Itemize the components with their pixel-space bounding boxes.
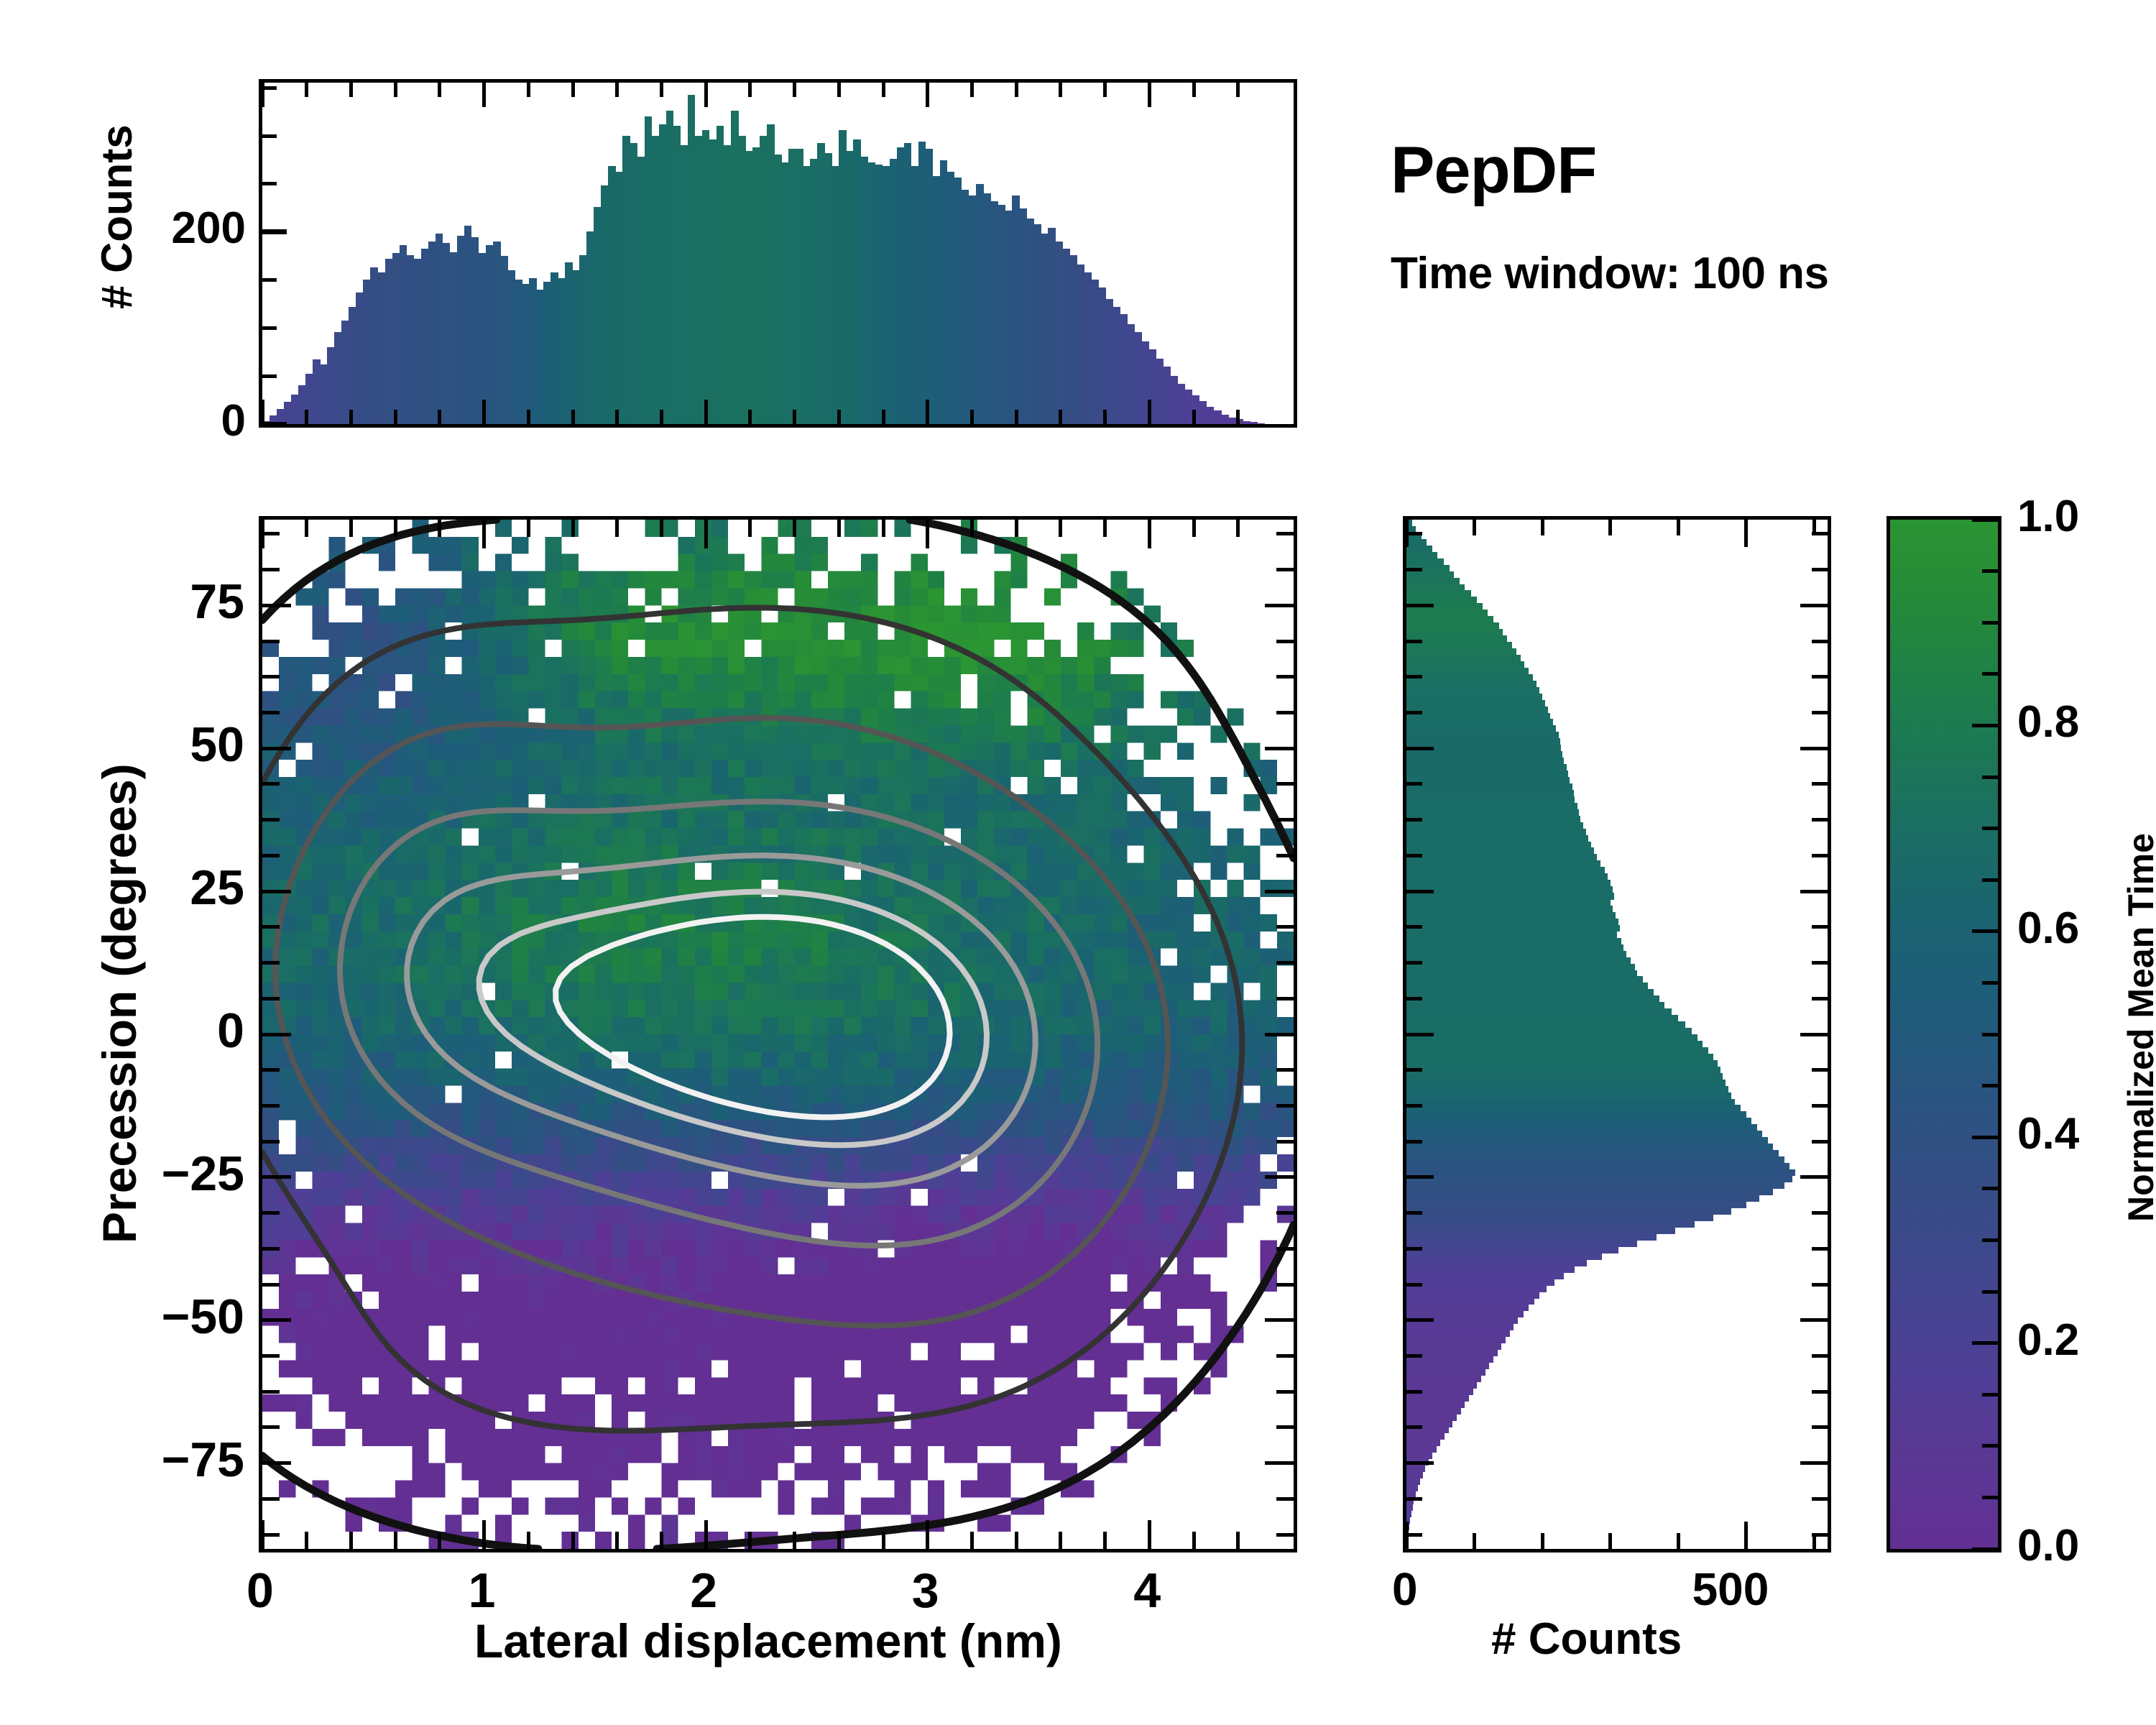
axis-tick (262, 1140, 280, 1144)
axis-tick (660, 1532, 663, 1549)
axis-tick (615, 520, 619, 537)
x-tick-label: 1 (469, 1563, 496, 1619)
axis-tick (571, 410, 575, 424)
axis-tick (1276, 675, 1294, 678)
colorbar-tick (1972, 1547, 1998, 1551)
top-histogram-bar (666, 111, 674, 424)
axis-tick (660, 410, 663, 424)
axis-tick (882, 520, 885, 537)
top-histogram-bar (443, 243, 451, 424)
axis-tick (1608, 1533, 1612, 1549)
main-2d-heatmap-panel (259, 516, 1297, 1552)
colorbar-tick (1982, 981, 1998, 985)
axis-tick (970, 410, 974, 424)
axis-tick (1276, 997, 1294, 1000)
axis-tick (748, 410, 752, 424)
top-histogram-bar (486, 245, 494, 424)
axis-tick (262, 1033, 291, 1036)
top-histogram-bars (262, 83, 1294, 424)
axis-tick (1192, 410, 1196, 424)
axis-tick (1276, 961, 1294, 965)
top-histogram-bar (724, 145, 732, 424)
axis-tick (262, 326, 277, 330)
axis-tick (793, 410, 796, 424)
top-histogram-bar (990, 201, 998, 424)
axis-tick (1800, 1175, 1828, 1179)
top-histogram-bar (377, 272, 385, 424)
top-histogram-bar (334, 332, 342, 424)
axis-tick (1276, 711, 1294, 714)
top-histogram-bar (543, 282, 551, 424)
top-histogram-bar (370, 267, 378, 424)
axis-tick (1812, 818, 1828, 822)
axis-tick (1812, 1211, 1828, 1215)
axis-tick (262, 1247, 280, 1251)
axis-tick (527, 520, 530, 537)
y-tick-label: −50 (29, 1289, 244, 1345)
colorbar-tick-label: 0.8 (2017, 696, 2079, 747)
top-histogram-bar (507, 270, 515, 424)
axis-tick (1015, 1532, 1018, 1549)
axis-tick (793, 83, 796, 97)
axis-tick (1812, 1533, 1828, 1537)
axis-tick (1265, 890, 1294, 893)
y-axis-label: Precession (degrees) (92, 763, 147, 1243)
axis-tick (1276, 1390, 1294, 1394)
top-histogram-bar (702, 130, 710, 424)
axis-tick (262, 1175, 291, 1179)
axis-tick (1812, 1390, 1828, 1394)
contour-line (262, 520, 1294, 1549)
y-tick-label: −75 (29, 1432, 244, 1488)
top-histogram-bar (911, 166, 919, 424)
axis-tick (1265, 1318, 1294, 1322)
axis-tick (1812, 568, 1828, 571)
colorbar-label: Normalized Mean Time (2120, 833, 2156, 1222)
axis-tick (262, 604, 291, 607)
top-histogram-bar (1091, 280, 1099, 424)
top-histogram-bar (681, 145, 688, 424)
axis-tick (527, 1532, 530, 1549)
top-histogram-bar (918, 142, 926, 424)
axis-tick (1276, 1104, 1294, 1108)
axis-tick (1276, 1533, 1294, 1537)
top-histogram-bar (1156, 359, 1164, 424)
axis-tick (1276, 925, 1294, 929)
axis-tick (1406, 1140, 1422, 1144)
axis-tick (1276, 854, 1294, 857)
top-histogram-bar (320, 364, 328, 424)
top-histogram-bar (536, 290, 544, 424)
axis-tick (1812, 854, 1828, 857)
axis-tick (262, 711, 280, 714)
axis-tick (1812, 782, 1828, 786)
top-histogram-bar (1207, 407, 1215, 424)
axis-tick (1406, 640, 1422, 643)
axis-tick (882, 83, 885, 97)
top-histogram-bar (407, 255, 415, 424)
axis-tick (262, 675, 280, 678)
axis-tick (394, 410, 397, 424)
axis-tick (527, 410, 530, 424)
top-histogram-bar (890, 159, 898, 424)
top-histogram-bar (752, 147, 760, 424)
colorbar-tick-label: 0.0 (2017, 1520, 2079, 1571)
axis-tick (1265, 1461, 1294, 1465)
top-histogram-bar (1041, 234, 1049, 424)
axis-tick (1812, 1425, 1828, 1429)
top-histogram-bar (817, 143, 825, 424)
axis-tick (1236, 1532, 1240, 1549)
axis-tick (970, 520, 974, 537)
contour-overlay (262, 520, 1294, 1549)
axis-tick (262, 568, 280, 571)
axis-tick (1265, 747, 1294, 750)
top-histogram-bar (1221, 415, 1229, 424)
axis-tick (1103, 520, 1107, 537)
axis-tick (1406, 675, 1422, 678)
axis-tick (262, 818, 280, 822)
top-histogram-bar (1019, 208, 1027, 424)
axis-tick (1406, 1318, 1434, 1322)
top-histogram-bar (738, 136, 746, 424)
axis-tick (1015, 410, 1018, 424)
top-histogram-bar (615, 172, 623, 424)
axis-tick (1812, 1247, 1828, 1251)
top-histogram-bar (1171, 376, 1179, 424)
top-histogram-bar (760, 136, 768, 424)
axis-tick (1677, 1533, 1680, 1549)
axis-tick (882, 1532, 885, 1549)
axis-tick (704, 83, 708, 107)
axis-tick (262, 640, 280, 643)
top-histogram-bar (608, 166, 616, 424)
axis-tick (1473, 520, 1476, 535)
x-tick-label: 4 (1133, 1563, 1161, 1619)
top-histogram-bar (969, 195, 977, 424)
top-histogram-bar (421, 249, 429, 424)
axis-tick (1800, 890, 1828, 893)
top-histogram-bar (926, 149, 934, 424)
axis-tick (1812, 1104, 1828, 1108)
axis-tick (1812, 1497, 1828, 1501)
axis-tick (262, 278, 277, 282)
axis-tick (1406, 890, 1434, 893)
axis-tick (1192, 1532, 1196, 1549)
top-histogram-bar (1055, 241, 1063, 424)
axis-tick (1406, 1247, 1422, 1251)
axis-tick (1406, 532, 1422, 535)
axis-tick (262, 1354, 280, 1358)
axis-tick (1608, 520, 1612, 535)
axis-tick (262, 1283, 280, 1287)
axis-tick (1276, 1211, 1294, 1215)
axis-tick (394, 520, 397, 537)
top-histogram-bar (767, 124, 775, 424)
axis-tick (1812, 1068, 1828, 1072)
top-histogram-bar (515, 280, 522, 424)
top-histogram-bar (846, 151, 854, 424)
axis-tick (1406, 997, 1422, 1000)
axis-tick (1800, 1461, 1828, 1465)
axis-tick (1406, 604, 1434, 607)
page-title: PepDF (1391, 133, 1596, 208)
axis-tick (305, 1532, 308, 1549)
axis-tick (837, 410, 841, 424)
axis-tick (1812, 997, 1828, 1000)
top-histogram-bar (1084, 272, 1092, 424)
axis-tick (1276, 1497, 1294, 1501)
axis-tick (1541, 1533, 1544, 1549)
axis-tick (262, 374, 277, 378)
axis-tick (926, 1520, 929, 1549)
axis-tick (926, 83, 929, 107)
axis-tick (1265, 604, 1294, 607)
top-histogram-bar (550, 272, 558, 424)
axis-tick (970, 1532, 974, 1549)
top-hist-y-tick-label: 200 (172, 203, 246, 254)
top-histogram-bar (745, 151, 753, 424)
axis-tick (1276, 640, 1294, 643)
top-histogram-bar (363, 280, 371, 424)
colorbar-tick (1982, 569, 1998, 573)
axis-tick (262, 1390, 280, 1394)
colorbar-tick-label: 0.6 (2017, 903, 2079, 954)
top-histogram-bar (579, 255, 587, 424)
axis-tick (349, 1532, 353, 1549)
axis-tick (527, 83, 530, 97)
axis-tick (1406, 1068, 1422, 1072)
axis-tick (615, 410, 619, 424)
axis-tick (262, 782, 280, 786)
colorbar-tick (1972, 929, 1998, 933)
top-histogram-bar (630, 143, 638, 424)
axis-tick (1236, 83, 1240, 97)
x-tick-label: 0 (247, 1563, 274, 1619)
axis-tick (1406, 1283, 1422, 1287)
axis-tick (837, 83, 841, 97)
top-histogram-bar (1135, 332, 1143, 424)
top-histogram-bar (313, 359, 321, 424)
axis-tick (1800, 747, 1828, 750)
axis-tick (1059, 83, 1062, 97)
x-axis-label: Lateral displacement (nm) (474, 1614, 1062, 1668)
top-histogram-bar (1098, 287, 1106, 424)
axis-tick (1812, 925, 1828, 929)
axis-tick (1059, 410, 1062, 424)
top-histogram-bar (601, 185, 609, 424)
axis-tick (305, 83, 308, 97)
top-marginal-histogram (259, 79, 1297, 428)
right-marginal-histogram (1403, 516, 1831, 1552)
colorbar-tick (1982, 1496, 1998, 1499)
axis-tick (571, 520, 575, 537)
top-histogram-bar (867, 162, 875, 424)
axis-tick (748, 1532, 752, 1549)
axis-tick (1406, 1033, 1434, 1036)
axis-tick (1148, 1520, 1151, 1549)
axis-tick (704, 1520, 708, 1549)
colorbar-tick (1982, 621, 1998, 625)
x-tick-label: 2 (690, 1563, 717, 1619)
top-histogram-bar (1005, 211, 1013, 424)
axis-tick (1406, 854, 1422, 857)
colorbar-tick-label: 0.4 (2017, 1108, 2079, 1159)
top-histogram-bar (839, 130, 847, 424)
top-histogram-bar (688, 95, 696, 424)
axis-tick (1406, 782, 1422, 786)
top-histogram-bar (341, 321, 349, 425)
axis-tick (1265, 1033, 1294, 1036)
axis-tick (1744, 520, 1748, 547)
top-histogram-bar (810, 159, 818, 424)
top-histogram-bar (788, 149, 796, 424)
axis-tick (262, 1425, 280, 1429)
top-histogram-bar (637, 157, 645, 424)
axis-tick (1015, 520, 1018, 537)
axis-tick (262, 747, 291, 750)
top-histogram-bar (1243, 421, 1250, 424)
top-histogram-bar (1105, 299, 1113, 424)
axis-tick (571, 83, 575, 97)
axis-tick (261, 400, 264, 424)
top-histogram-bar (781, 162, 789, 424)
contour-line (407, 855, 1036, 1185)
axis-tick (1406, 1533, 1422, 1537)
axis-tick (1059, 520, 1062, 537)
axis-tick (837, 1532, 841, 1549)
top-histogram-bar (875, 165, 883, 424)
axis-tick (1406, 1104, 1422, 1108)
axis-tick (1812, 711, 1828, 714)
top-histogram-bar (586, 231, 594, 424)
axis-tick (482, 400, 486, 424)
axis-tick (438, 520, 441, 537)
top-histogram-bar (622, 136, 630, 424)
axis-tick (748, 520, 752, 537)
top-histogram-bar (428, 241, 436, 424)
top-histogram-bar (572, 270, 580, 424)
colorbar-tick (1982, 672, 1998, 676)
top-histogram-bar (831, 166, 839, 424)
top-histogram-bar (897, 147, 905, 424)
axis-tick (1800, 604, 1828, 607)
axis-tick (1276, 1283, 1294, 1287)
top-histogram-bar (464, 226, 472, 424)
axis-tick (349, 410, 353, 424)
axis-tick (262, 182, 277, 185)
axis-tick (1276, 1354, 1294, 1358)
axis-tick (394, 83, 397, 97)
axis-tick (1406, 1461, 1434, 1465)
top-histogram-bar (493, 241, 501, 424)
top-histogram-bar (1178, 384, 1186, 424)
axis-tick (1812, 961, 1828, 965)
top-histogram-bar (414, 259, 422, 424)
top-histogram-bar (385, 259, 393, 424)
axis-tick (1015, 83, 1018, 97)
axis-tick (748, 83, 752, 97)
top-histogram-bar (284, 402, 292, 424)
top-histogram-bar (695, 136, 703, 424)
top-histogram-bar (1257, 423, 1265, 424)
axis-tick (1473, 1533, 1476, 1549)
axis-tick (1276, 1068, 1294, 1072)
axis-tick (438, 410, 441, 424)
axis-tick (1276, 1247, 1294, 1251)
top-histogram-bar (803, 166, 811, 424)
axis-tick (970, 83, 974, 97)
axis-tick (1406, 747, 1434, 750)
axis-tick (482, 1520, 486, 1549)
axis-tick (882, 410, 885, 424)
axis-tick (1276, 568, 1294, 571)
axis-tick (615, 1532, 619, 1549)
axis-tick (615, 83, 619, 97)
axis-tick (262, 925, 280, 929)
axis-tick (262, 890, 291, 893)
top-histogram-bar (436, 234, 443, 424)
axis-tick (704, 520, 708, 548)
top-histogram-bar (500, 256, 508, 424)
x-tick-label: 3 (912, 1563, 939, 1619)
axis-tick (926, 400, 929, 424)
top-hist-y-axis-label: # Counts (92, 124, 142, 309)
axis-tick (1103, 1532, 1107, 1549)
axis-tick (1812, 675, 1828, 678)
axis-tick (349, 520, 353, 537)
axis-tick (1800, 1318, 1828, 1322)
top-histogram-bar (853, 139, 861, 424)
top-histogram-bar (522, 284, 530, 424)
axis-tick (262, 229, 287, 234)
axis-tick (482, 520, 486, 548)
axis-tick (1812, 1140, 1828, 1144)
top-histogram-bar (1033, 224, 1041, 424)
axis-tick (262, 1533, 280, 1537)
axis-tick (1406, 1175, 1434, 1179)
axis-tick (262, 1497, 280, 1501)
axis-tick (349, 83, 353, 97)
axis-tick (1276, 532, 1294, 535)
axis-tick (1406, 1354, 1422, 1358)
axis-tick (262, 854, 280, 857)
top-histogram-bar (1012, 195, 1020, 424)
right-hist-x-tick-label: 0 (1392, 1563, 1418, 1616)
colorbar-tick (1972, 518, 1998, 522)
top-histogram-bar (1112, 307, 1120, 424)
colorbar-tick (1982, 878, 1998, 882)
axis-tick (1541, 520, 1544, 535)
top-histogram-bar (954, 178, 962, 424)
axis-tick (1406, 1425, 1422, 1429)
axis-tick (482, 83, 486, 107)
axis-tick (1812, 1354, 1828, 1358)
top-histogram-bar (673, 126, 681, 424)
top-histogram-bar (450, 252, 458, 425)
axis-tick (1406, 1497, 1422, 1501)
axis-tick (438, 83, 441, 97)
y-tick-label: 75 (29, 574, 244, 630)
axis-tick (262, 1068, 280, 1072)
colorbar-tick (1982, 1290, 1998, 1294)
colorbar-tick-label: 1.0 (2017, 491, 2079, 542)
axis-tick (262, 1104, 280, 1108)
axis-tick (660, 83, 663, 97)
contour-line (556, 917, 949, 1118)
top-histogram-bar (1077, 264, 1084, 424)
axis-tick (1103, 83, 1107, 97)
